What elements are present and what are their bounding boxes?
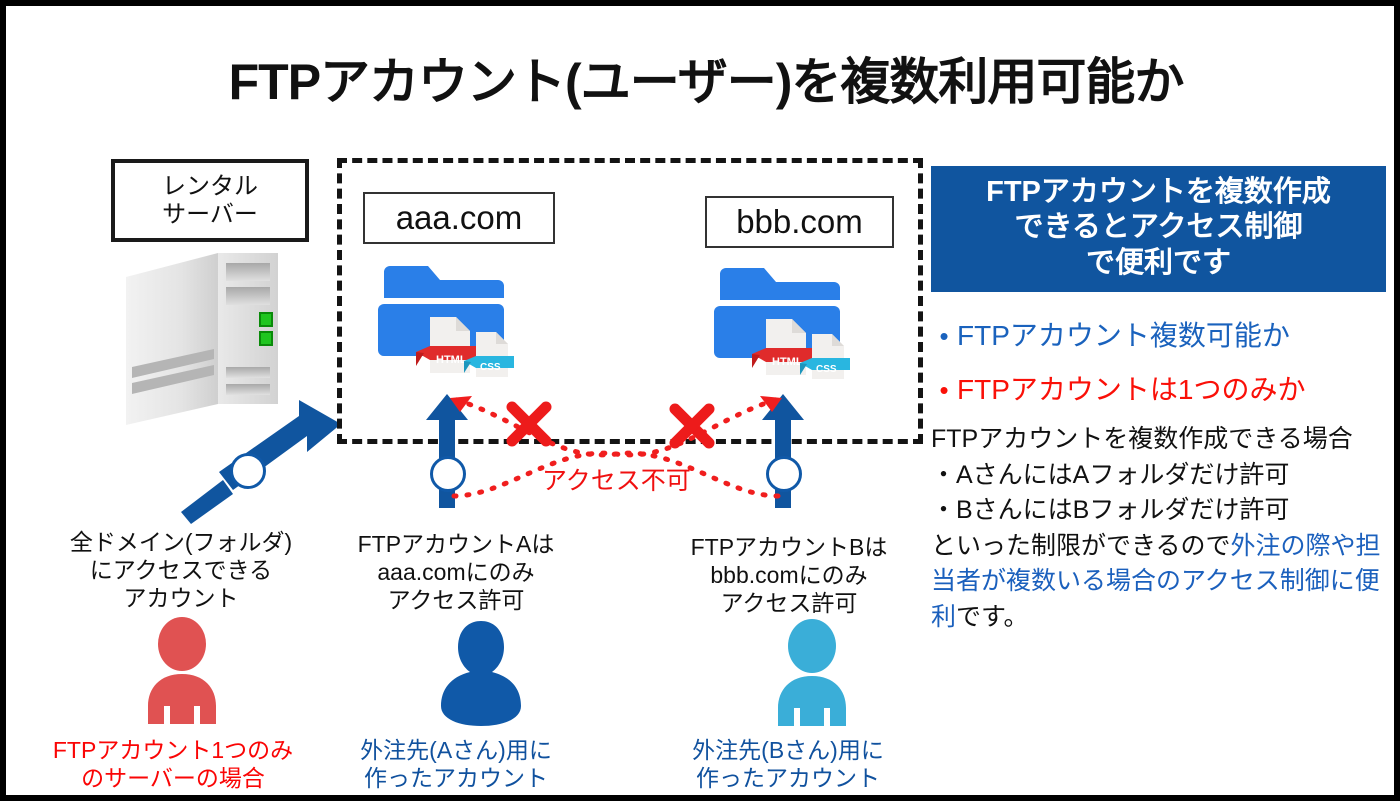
html-badge-text: HTML xyxy=(436,354,467,366)
bullet-label: FTPアカウントは1つのみか xyxy=(957,368,1305,408)
caption-line: bbb.comにのみ xyxy=(669,561,909,589)
bottom-caption-line: 作ったアカウント xyxy=(668,764,908,792)
body-line-1: FTPアカウントを複数作成できる場合 xyxy=(931,422,1386,458)
person-icon-red xyxy=(139,616,225,724)
explanation-body: FTPアカウントを複数作成できる場合 ・AさんにはAフォルダだけ許可 ・Bさんに… xyxy=(931,422,1386,635)
body-line-3: ・BさんにはBフォルダだけ許可 xyxy=(931,493,1386,529)
access-denied-label: アクセス不可 xyxy=(542,461,691,497)
domain-label-aaa: aaa.com xyxy=(363,192,555,244)
bottom-caption-line: のサーバーの場合 xyxy=(28,764,318,792)
caption-line: 全ドメイン(フォルダ) xyxy=(36,528,326,556)
folder-icon-aaa: HTML CSS xyxy=(376,254,526,379)
bullet-item-multiple: • FTPアカウント複数可能か xyxy=(931,314,1386,354)
bullet-list: • FTPアカウント複数可能か • FTPアカウントは1つのみか xyxy=(931,314,1386,408)
right-panel: FTPアカウントを複数作成 できるとアクセス制御 で便利です • FTPアカウン… xyxy=(931,166,1386,635)
banner-line: で便利です xyxy=(937,246,1380,281)
slide-canvas: FTPアカウント(ユーザー)を複数利用可能か レンタル サーバー xyxy=(0,0,1400,801)
page-title: FTPアカウント(ユーザー)を複数利用可能か xyxy=(6,42,1400,114)
banner-line: できるとアクセス制御 xyxy=(937,210,1380,245)
caption-line: アクセス許可 xyxy=(336,586,576,614)
bottom-caption-account-a: 外注先(Aさん)用に 作ったアカウント xyxy=(336,736,576,792)
caption-line: アカウント xyxy=(36,584,326,612)
x-mark-right-icon xyxy=(669,403,715,449)
css-badge-text: CSS xyxy=(816,364,837,375)
rental-server-line1: レンタル xyxy=(162,173,258,201)
html-badge-text: HTML xyxy=(772,356,803,368)
bottom-caption-line: 作ったアカウント xyxy=(336,764,576,792)
circle-marker-a xyxy=(430,456,466,492)
caption-line: にアクセスできる xyxy=(36,556,326,584)
caption-all-domains: 全ドメイン(フォルダ) にアクセスできる アカウント xyxy=(36,528,326,612)
summary-banner: FTPアカウントを複数作成 できるとアクセス制御 で便利です xyxy=(931,166,1386,292)
rental-server-box: レンタル サーバー xyxy=(111,159,309,242)
person-icon-cyan xyxy=(769,618,855,726)
caption-line: FTPアカウントAは xyxy=(336,530,576,558)
bullet-label: FTPアカウント複数可能か xyxy=(957,314,1290,354)
css-badge-text: CSS xyxy=(480,362,501,373)
caption-line: aaa.comにのみ xyxy=(336,558,576,586)
server-led-1 xyxy=(260,313,272,326)
caption-line: アクセス許可 xyxy=(669,589,909,617)
body-line-4: といった制限ができるので外注の際や担当者が複数いる場合のアクセス制御に便利です。 xyxy=(931,529,1386,636)
caption-account-a: FTPアカウントAは aaa.comにのみ アクセス許可 xyxy=(336,530,576,614)
person-icon-dark-blue xyxy=(438,618,524,726)
caption-line: FTPアカウントBは xyxy=(669,533,909,561)
folder-icon-bbb: HTML CSS xyxy=(712,256,862,381)
server-led-2 xyxy=(260,332,272,345)
bullet-dot-icon: • xyxy=(931,321,957,352)
bottom-caption-single-account: FTPアカウント1つのみ のサーバーの場合 xyxy=(28,736,318,792)
banner-line: FTPアカウントを複数作成 xyxy=(937,175,1380,210)
bullet-dot-icon: • xyxy=(931,375,957,406)
domain-label-bbb: bbb.com xyxy=(705,196,894,248)
bottom-caption-line: 外注先(Aさん)用に xyxy=(336,736,576,764)
rental-server-line2: サーバー xyxy=(162,201,258,229)
body-text-plain-b: です。 xyxy=(956,603,1029,631)
circle-marker-b xyxy=(766,456,802,492)
circle-marker-left xyxy=(230,453,266,489)
x-mark-left-icon xyxy=(506,401,552,447)
bottom-caption-line: FTPアカウント1つのみ xyxy=(28,736,318,764)
caption-account-b: FTPアカウントBは bbb.comにのみ アクセス許可 xyxy=(669,533,909,617)
bottom-caption-line: 外注先(Bさん)用に xyxy=(668,736,908,764)
bottom-caption-account-b: 外注先(Bさん)用に 作ったアカウント xyxy=(668,736,908,792)
body-text-plain-a: といった制限ができるので xyxy=(931,532,1231,560)
bullet-item-single: • FTPアカウントは1つのみか xyxy=(931,368,1386,408)
body-line-2: ・AさんにはAフォルダだけ許可 xyxy=(931,458,1386,494)
